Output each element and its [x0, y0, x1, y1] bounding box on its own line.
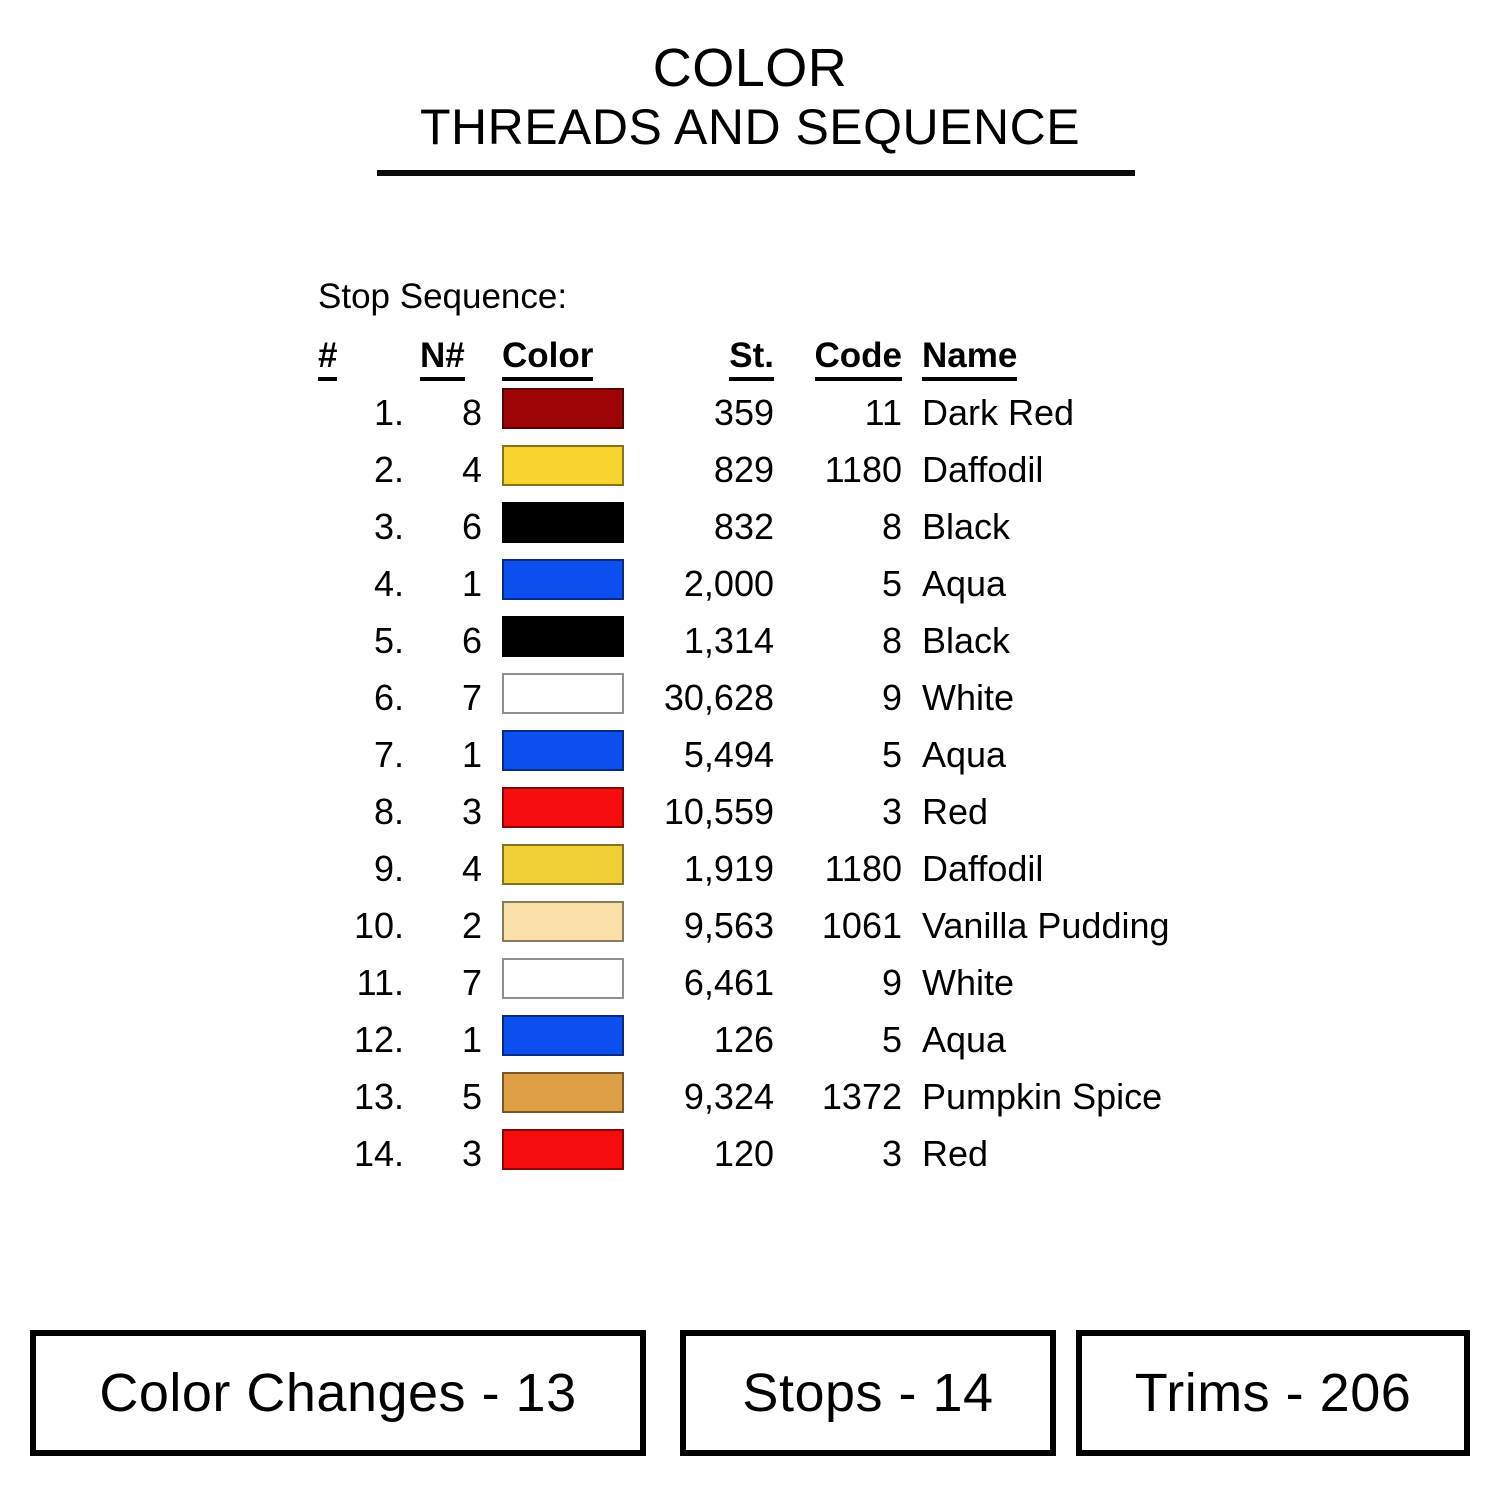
- row-code: 9: [774, 954, 902, 1011]
- row-name: Aqua: [902, 555, 1170, 612]
- row-index: 12.: [318, 1011, 420, 1068]
- row-code: 1061: [774, 897, 902, 954]
- table-header: # N# Color St. Code Name: [318, 336, 1170, 384]
- row-name: Dark Red: [902, 384, 1170, 441]
- row-name: Daffodil: [902, 441, 1170, 498]
- row-needle: 2: [420, 897, 482, 954]
- row-color-cell: [482, 726, 654, 783]
- row-color-cell: [482, 441, 654, 498]
- row-index: 6.: [318, 669, 420, 726]
- row-needle: 5: [420, 1068, 482, 1125]
- row-index: 10.: [318, 897, 420, 954]
- thread-sequence-table: # N# Color St. Code Name 1.835911Dark Re…: [318, 336, 1170, 1182]
- column-header-name: Name: [902, 336, 1170, 384]
- row-index: 3.: [318, 498, 420, 555]
- table-row: 10.29,5631061Vanilla Pudding: [318, 897, 1170, 954]
- row-index: 13.: [318, 1068, 420, 1125]
- row-name: Aqua: [902, 726, 1170, 783]
- row-color-cell: [482, 954, 654, 1011]
- row-name: Red: [902, 1125, 1170, 1182]
- row-stitches: 5,494: [654, 726, 774, 783]
- stat-label-stops: Stops - 14: [742, 1362, 993, 1424]
- row-color-cell: [482, 840, 654, 897]
- column-header-code: Code: [774, 336, 902, 384]
- row-color-cell: [482, 1125, 654, 1182]
- row-index: 5.: [318, 612, 420, 669]
- row-code: 5: [774, 555, 902, 612]
- color-swatch: [502, 1129, 624, 1170]
- summary-stats: Color Changes - 13 Stops - 14 Trims - 20…: [30, 1330, 1470, 1456]
- row-stitches: 9,324: [654, 1068, 774, 1125]
- color-swatch: [502, 616, 624, 657]
- row-color-cell: [482, 1011, 654, 1068]
- row-needle: 1: [420, 555, 482, 612]
- row-color-cell: [482, 555, 654, 612]
- row-index: 4.: [318, 555, 420, 612]
- row-name: Aqua: [902, 1011, 1170, 1068]
- column-header-index: #: [318, 336, 420, 384]
- column-header-stitches: St.: [654, 336, 774, 384]
- row-needle: 3: [420, 783, 482, 840]
- table-row: 1.835911Dark Red: [318, 384, 1170, 441]
- row-needle: 4: [420, 441, 482, 498]
- row-stitches: 30,628: [654, 669, 774, 726]
- table-row: 7.15,4945Aqua: [318, 726, 1170, 783]
- row-name: White: [902, 669, 1170, 726]
- row-color-cell: [482, 669, 654, 726]
- table-row: 11.76,4619White: [318, 954, 1170, 1011]
- row-index: 8.: [318, 783, 420, 840]
- row-stitches: 829: [654, 441, 774, 498]
- row-stitches: 9,563: [654, 897, 774, 954]
- row-name: Black: [902, 498, 1170, 555]
- color-swatch: [502, 502, 624, 543]
- title-divider: [377, 170, 1135, 176]
- row-name: Pumpkin Spice: [902, 1068, 1170, 1125]
- row-color-cell: [482, 897, 654, 954]
- table-row: 6.730,6289White: [318, 669, 1170, 726]
- row-code: 3: [774, 1125, 902, 1182]
- row-needle: 1: [420, 726, 482, 783]
- row-code: 8: [774, 498, 902, 555]
- row-color-cell: [482, 612, 654, 669]
- table-row: 9.41,9191180Daffodil: [318, 840, 1170, 897]
- row-code: 5: [774, 726, 902, 783]
- row-code: 1372: [774, 1068, 902, 1125]
- column-header-color: Color: [482, 336, 654, 384]
- page-subtitle: THREADS AND SEQUENCE: [0, 98, 1500, 156]
- row-code: 5: [774, 1011, 902, 1068]
- row-needle: 7: [420, 669, 482, 726]
- table-row: 3.68328Black: [318, 498, 1170, 555]
- color-swatch: [502, 958, 624, 999]
- table-row: 13.59,3241372Pumpkin Spice: [318, 1068, 1170, 1125]
- table-row: 5.61,3148Black: [318, 612, 1170, 669]
- row-color-cell: [482, 498, 654, 555]
- row-name: Red: [902, 783, 1170, 840]
- table-row: 8.310,5593Red: [318, 783, 1170, 840]
- row-code: 9: [774, 669, 902, 726]
- page-title: COLOR: [0, 38, 1500, 98]
- column-header-needle: N#: [420, 336, 482, 384]
- stop-sequence-heading: Stop Sequence:: [318, 277, 567, 317]
- color-swatch: [502, 1015, 624, 1056]
- row-stitches: 832: [654, 498, 774, 555]
- table-row: 2.48291180Daffodil: [318, 441, 1170, 498]
- row-code: 8: [774, 612, 902, 669]
- row-stitches: 1,919: [654, 840, 774, 897]
- row-name: Vanilla Pudding: [902, 897, 1170, 954]
- row-stitches: 2,000: [654, 555, 774, 612]
- color-swatch: [502, 901, 624, 942]
- row-color-cell: [482, 783, 654, 840]
- color-swatch: [502, 445, 624, 486]
- row-stitches: 359: [654, 384, 774, 441]
- color-swatch: [502, 388, 624, 429]
- row-code: 1180: [774, 840, 902, 897]
- stat-box-color-changes: Color Changes - 13: [30, 1330, 646, 1456]
- table-row: 12.11265Aqua: [318, 1011, 1170, 1068]
- row-needle: 6: [420, 612, 482, 669]
- row-name: Black: [902, 612, 1170, 669]
- color-swatch: [502, 1072, 624, 1113]
- row-index: 14.: [318, 1125, 420, 1182]
- stat-box-trims: Trims - 206: [1076, 1330, 1470, 1456]
- table-row: 4.12,0005Aqua: [318, 555, 1170, 612]
- table-header-row: # N# Color St. Code Name: [318, 336, 1170, 384]
- stat-label-trims: Trims - 206: [1135, 1362, 1412, 1424]
- row-name: Daffodil: [902, 840, 1170, 897]
- row-index: 11.: [318, 954, 420, 1011]
- row-stitches: 120: [654, 1125, 774, 1182]
- row-stitches: 6,461: [654, 954, 774, 1011]
- row-needle: 8: [420, 384, 482, 441]
- row-needle: 3: [420, 1125, 482, 1182]
- stat-box-stops: Stops - 14: [680, 1330, 1056, 1456]
- row-needle: 1: [420, 1011, 482, 1068]
- row-needle: 7: [420, 954, 482, 1011]
- document-title-block: COLOR THREADS AND SEQUENCE: [0, 38, 1500, 156]
- row-needle: 4: [420, 840, 482, 897]
- row-needle: 6: [420, 498, 482, 555]
- row-index: 9.: [318, 840, 420, 897]
- color-swatch: [502, 787, 624, 828]
- color-swatch: [502, 844, 624, 885]
- row-stitches: 126: [654, 1011, 774, 1068]
- row-code: 3: [774, 783, 902, 840]
- row-stitches: 1,314: [654, 612, 774, 669]
- row-index: 7.: [318, 726, 420, 783]
- row-index: 1.: [318, 384, 420, 441]
- row-name: White: [902, 954, 1170, 1011]
- table-row: 14.31203Red: [318, 1125, 1170, 1182]
- stat-label-color-changes: Color Changes - 13: [99, 1362, 576, 1424]
- color-swatch: [502, 673, 624, 714]
- row-code: 1180: [774, 441, 902, 498]
- row-color-cell: [482, 384, 654, 441]
- table-body: 1.835911Dark Red2.48291180Daffodil3.6832…: [318, 384, 1170, 1182]
- row-code: 11: [774, 384, 902, 441]
- color-swatch: [502, 730, 624, 771]
- row-color-cell: [482, 1068, 654, 1125]
- row-index: 2.: [318, 441, 420, 498]
- color-swatch: [502, 559, 624, 600]
- row-stitches: 10,559: [654, 783, 774, 840]
